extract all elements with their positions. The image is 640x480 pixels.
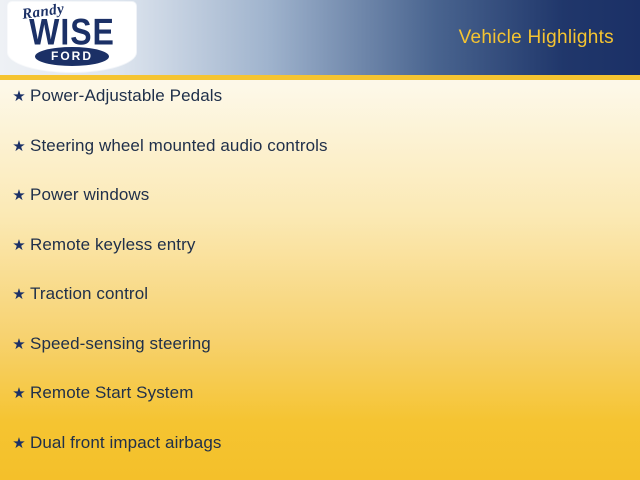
header-underline [0, 75, 640, 80]
star-icon: ★ [8, 89, 30, 104]
list-item-label: Traction control [30, 284, 148, 304]
list-item-label: Remote Start System [30, 383, 193, 403]
dealer-logo: Randy WISE FORD [8, 2, 136, 74]
page-title: Vehicle Highlights [459, 27, 614, 49]
list-item: ★ Remote keyless entry [0, 235, 640, 285]
logo-brand-badge: FORD [35, 47, 109, 66]
star-icon: ★ [8, 238, 30, 253]
list-item: ★ Speed-sensing steering [0, 334, 640, 384]
star-icon: ★ [8, 139, 30, 154]
list-item: ★ Traction control [0, 284, 640, 334]
star-icon: ★ [8, 386, 30, 401]
highlights-list: ★ Power-Adjustable Pedals ★ Steering whe… [0, 86, 640, 480]
list-item: ★ Power windows [0, 185, 640, 235]
list-item-label: Power-Adjustable Pedals [30, 86, 222, 106]
star-icon: ★ [8, 436, 30, 451]
star-icon: ★ [8, 188, 30, 203]
list-item: ★ Power-Adjustable Pedals [0, 86, 640, 136]
list-item-label: Speed-sensing steering [30, 334, 211, 354]
list-item-label: Dual front impact airbags [30, 433, 221, 453]
star-icon: ★ [8, 337, 30, 352]
logo-main-text: WISE [18, 14, 126, 51]
list-item: ★ Steering wheel mounted audio controls [0, 136, 640, 186]
vehicle-highlights-slide: Vehicle Highlights Randy WISE FORD ★ Pow… [0, 0, 640, 480]
star-icon: ★ [8, 287, 30, 302]
list-item: ★ Remote Start System [0, 383, 640, 433]
list-item-label: Power windows [30, 185, 149, 205]
list-item-label: Remote keyless entry [30, 235, 195, 255]
list-item: ★ Dual front impact airbags [0, 433, 640, 480]
list-item-label: Steering wheel mounted audio controls [30, 136, 328, 156]
